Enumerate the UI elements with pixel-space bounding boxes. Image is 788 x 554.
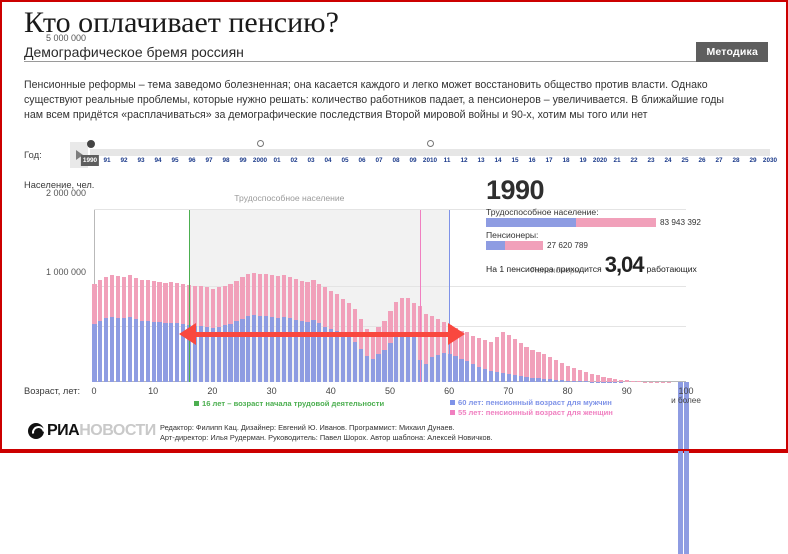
bar-segment-pink [513, 339, 517, 375]
bar-segment-pink [507, 335, 511, 374]
bar-segment-pink [388, 311, 392, 343]
bar-age-74 [530, 350, 534, 382]
bar-segment-pink [578, 370, 582, 381]
bar-segment-pink [495, 337, 499, 372]
bar-segment-blue [92, 324, 96, 382]
bar-segment-pink [98, 280, 102, 321]
bar-segment-pink [282, 275, 286, 317]
ria-logo-mark-icon [28, 423, 44, 439]
bar-segment-pink [400, 298, 404, 334]
bar-age-89 [619, 380, 623, 382]
bar-age-70 [507, 335, 511, 382]
x-tick-label-30: 30 [267, 386, 277, 396]
bar-segment-pink [169, 282, 173, 322]
bar-segment-blue [388, 343, 392, 382]
bar-segment-pink [483, 340, 487, 369]
info-pensioners-bar: 27 620 789 [486, 241, 786, 250]
bar-segment-blue [684, 382, 688, 554]
bar-segment-pink [323, 287, 327, 326]
bar-segment-blue [578, 381, 582, 382]
bar-age-41 [335, 294, 339, 382]
bar-age-27 [252, 273, 256, 382]
year-label-91[interactable]: 91 [103, 157, 110, 164]
bar-age-79 [560, 363, 564, 382]
year-label-92[interactable]: 92 [120, 157, 127, 164]
bar-age-42 [341, 299, 345, 382]
ria-novosti-logo: РИАНОВОСТИ [28, 422, 156, 440]
bar-segment-blue [430, 357, 434, 382]
bar-segment-blue [465, 361, 469, 382]
bar-segment-blue [530, 378, 534, 382]
bar-age-86 [601, 377, 605, 382]
year-label-94[interactable]: 94 [154, 157, 161, 164]
info-pensioners-value: 27 620 789 [547, 241, 588, 250]
year-label-95[interactable]: 95 [171, 157, 178, 164]
year-label-25[interactable]: 25 [681, 157, 688, 164]
bar-age-90 [625, 380, 629, 382]
year-label-2000[interactable]: 2000 [253, 157, 267, 164]
bar-segment-pink [471, 336, 475, 365]
bar-segment-pink [270, 275, 274, 317]
bar-segment-pink [477, 338, 481, 367]
bar-segment-blue [536, 378, 540, 382]
men-pension-line [449, 210, 450, 382]
x-axis-overflow-label: и более [671, 396, 701, 405]
arrow-head-right [448, 323, 465, 345]
methodika-button[interactable]: Методика [696, 42, 768, 62]
bar-age-31 [276, 276, 280, 382]
bar-segment-blue [116, 318, 120, 382]
bar-segment-blue [152, 322, 156, 382]
bar-segment-pink [554, 360, 558, 380]
info-working-bar-blue [486, 218, 576, 227]
x-axis-title: Возраст, лет: [24, 386, 80, 396]
info-ratio-suffix: работающих [647, 264, 697, 274]
bar-segment-blue [424, 364, 428, 382]
bar-age-12 [163, 283, 167, 383]
bar-age-3 [110, 275, 114, 382]
bar-segment-blue [436, 355, 440, 382]
page-title: Кто оплачивает пенсию? [24, 6, 766, 40]
bar-segment-blue [341, 335, 345, 382]
year-label-14[interactable]: 14 [494, 157, 501, 164]
note-men-pension: 60 лет: пенсионный возраст для мужчин [450, 398, 612, 407]
bar-segment-blue [140, 321, 144, 382]
bar-segment-blue [311, 320, 315, 382]
bar-segment-blue [134, 319, 138, 382]
bar-age-7 [134, 278, 138, 382]
bar-segment-pink [152, 281, 156, 321]
bar-segment-blue [572, 381, 576, 382]
year-label-24[interactable]: 24 [664, 157, 671, 164]
x-tick-label-0: 0 [91, 386, 96, 396]
bar-age-76 [542, 354, 546, 382]
bar-segment-blue [507, 374, 511, 382]
bar-segment-pink [489, 342, 493, 371]
bar-age-1 [98, 280, 102, 382]
lead-paragraph: Пенсионные реформы – тема заведомо болез… [24, 78, 744, 124]
bar-age-5 [122, 277, 126, 382]
bar-segment-pink [246, 274, 250, 316]
bar-segment-pink [199, 286, 203, 326]
bar-segment-pink [536, 352, 540, 378]
bar-segment-blue [335, 331, 339, 382]
year-label-98[interactable]: 98 [222, 157, 229, 164]
credits-line-1: Редактор: Филипп Кац. Дизайнер: Евгений … [160, 423, 493, 433]
bar-segment-pink [175, 283, 179, 323]
page-subtitle: Демографическое бремя россиян [24, 43, 766, 61]
year-label-26[interactable]: 26 [698, 157, 705, 164]
bar-segment-pink [371, 336, 375, 359]
year-label-12[interactable]: 12 [460, 157, 467, 164]
year-label-03[interactable]: 03 [307, 157, 314, 164]
bar-segment-blue [365, 356, 369, 382]
year-slider-label: Год: [24, 150, 42, 161]
bar-segment-blue [252, 315, 256, 382]
bar-segment-pink [442, 322, 446, 354]
bar-age-6 [128, 275, 132, 382]
year-label-27[interactable]: 27 [715, 157, 722, 164]
bar-age-26 [246, 274, 250, 382]
bar-segment-pink [104, 277, 108, 319]
bar-segment-pink [163, 283, 167, 323]
bar-age-25 [240, 277, 244, 382]
bar-segment-blue [459, 359, 463, 382]
bar-age-50 [388, 311, 392, 382]
bar-segment-blue [560, 380, 564, 382]
bar-segment-blue [353, 342, 357, 382]
bar-segment-blue [128, 317, 132, 382]
info-ratio-prefix: На 1 пенсионера приходится [486, 264, 602, 274]
bar-segment-blue [264, 316, 268, 382]
bar-age-71 [513, 339, 517, 382]
bar-age-44 [353, 309, 357, 382]
bar-age-45 [359, 319, 363, 382]
bar-segment-pink [211, 289, 215, 328]
slider-marker-1990[interactable] [87, 140, 95, 148]
bar-age-91 [631, 381, 635, 382]
year-slider[interactable]: Год: 19909192939495969798992000010203040… [2, 140, 786, 172]
bar-segment-pink [223, 286, 227, 326]
bar-segment-blue [489, 371, 493, 382]
bar-age-28 [258, 274, 262, 382]
bar-segment-blue [524, 377, 528, 382]
bar-age-0 [92, 284, 96, 382]
x-tick-label-50: 50 [385, 386, 395, 396]
bar-segment-pink [590, 374, 594, 382]
bar-age-57 [430, 316, 434, 382]
x-tick-label-20: 20 [207, 386, 217, 396]
slider-track[interactable] [90, 149, 770, 156]
year-label-01[interactable]: 01 [273, 157, 280, 164]
bar-segment-blue [234, 321, 238, 382]
bar-segment-blue [300, 321, 304, 382]
note-work-start: 16 лет – возраст начала трудовой деятель… [194, 399, 384, 408]
bar-segment-blue [566, 381, 570, 382]
bar-segment-blue [406, 334, 410, 382]
bar-segment-blue [146, 321, 150, 382]
year-label-93[interactable]: 93 [137, 157, 144, 164]
bar-age-9 [146, 280, 150, 382]
bar-segment-pink [317, 284, 321, 324]
bar-age-84 [590, 374, 594, 382]
bar-segment-blue [305, 322, 309, 382]
bar-segment-pink [276, 276, 280, 318]
x-tick-label-80: 80 [563, 386, 573, 396]
bar-age-32 [282, 275, 286, 382]
bar-segment-blue [442, 353, 446, 382]
square-marker-pink-icon [450, 410, 455, 415]
bar-age-53 [406, 298, 410, 382]
bar-segment-pink [584, 372, 588, 382]
bar-age-67 [489, 342, 493, 382]
bar-segment-blue [400, 334, 404, 382]
bar-age-88 [613, 379, 617, 382]
bar-segment-blue [169, 323, 173, 382]
bar-segment-blue [477, 367, 481, 382]
year-label-21[interactable]: 21 [613, 157, 620, 164]
year-label-16[interactable]: 16 [528, 157, 535, 164]
bar-segment-blue [371, 359, 375, 382]
bar-segment-blue [548, 379, 552, 382]
x-tick-label-100: 100 [678, 386, 693, 396]
bar-segment-pink [288, 277, 292, 318]
info-ratio: На 1 пенсионера приходится 3,04 работающ… [486, 255, 786, 275]
year-label-07[interactable]: 07 [375, 157, 382, 164]
bar-segment-blue [246, 316, 250, 382]
year-label-28[interactable]: 28 [732, 157, 739, 164]
year-label-1990[interactable]: 1990 [81, 155, 99, 166]
bar-segment-pink [128, 275, 132, 317]
bar-segment-blue [471, 364, 475, 382]
bar-segment-pink [205, 287, 209, 327]
bar-segment-pink [122, 277, 126, 318]
year-label-22[interactable]: 22 [630, 157, 637, 164]
bar-segment-blue [104, 318, 108, 382]
bar-segment-blue [513, 375, 517, 382]
bar-segment-pink [424, 314, 428, 364]
info-working-value: 83 943 392 [660, 218, 701, 227]
credits-line-2: Арт-директор: Илья Рудерман. Руководител… [160, 433, 493, 443]
bar-age-59 [442, 322, 446, 382]
bar-segment-pink [181, 284, 185, 324]
arrow-shaft [195, 332, 450, 337]
year-label-97[interactable]: 97 [205, 157, 212, 164]
bar-segment-pink [294, 279, 298, 320]
bar-segment-pink [110, 275, 114, 317]
bar-age-63 [465, 332, 469, 382]
bar-age-85 [596, 375, 600, 382]
x-tick-label-90: 90 [622, 386, 632, 396]
footer: РИАНОВОСТИ Редактор: Филипп Кац. Дизайне… [2, 418, 786, 451]
bar-segment-pink [116, 276, 120, 318]
bar-segment-pink [501, 332, 505, 372]
note-men-pension-label: 60 лет: пенсионный возраст для мужчин [458, 398, 612, 407]
x-tick-label-60: 60 [444, 386, 454, 396]
bar-segment-pink [217, 287, 221, 326]
bar-age-10 [152, 281, 156, 382]
y-tick-label-1: 2 000 000 [46, 188, 86, 198]
year-label-2030[interactable]: 2030 [763, 157, 777, 164]
year-label-04[interactable]: 04 [324, 157, 331, 164]
note-women-pension: 55 лет: пенсионный возраст для женщин [450, 408, 613, 417]
bar-segment-blue [412, 337, 416, 382]
y-tick-label-2: 1 000 000 [46, 267, 86, 277]
bar-segment-pink [465, 332, 469, 361]
bar-segment-blue [382, 350, 386, 382]
year-label-23[interactable]: 23 [647, 157, 654, 164]
bar-segment-pink [300, 281, 304, 321]
year-label-13[interactable]: 13 [477, 157, 484, 164]
bar-segment-pink [193, 286, 197, 326]
bar-age-72 [519, 343, 523, 382]
bar-segment-pink [92, 284, 96, 324]
slider-year-labels[interactable]: 1990919293949596979899200001020304050607… [90, 156, 780, 170]
bar-age-47 [371, 336, 375, 382]
bar-segment-blue [294, 320, 298, 382]
info-pensioners-bar-pink [505, 241, 543, 250]
header-divider [24, 61, 724, 62]
bar-segment-blue [110, 317, 114, 382]
year-label-02[interactable]: 02 [290, 157, 297, 164]
bar-segment-pink [519, 343, 523, 375]
bar-segment-pink [572, 368, 576, 381]
year-label-05[interactable]: 05 [341, 157, 348, 164]
bar-segment-blue [376, 354, 380, 382]
bar-segment-pink [566, 366, 570, 381]
bar-segment-pink [240, 277, 244, 319]
bar-segment-blue [519, 376, 523, 382]
info-ratio-value: 3,04 [605, 255, 644, 275]
slider-marker-2000[interactable] [257, 140, 264, 147]
bar-age-4 [116, 276, 120, 382]
year-label-2010[interactable]: 2010 [423, 157, 437, 164]
bar-age-68 [495, 337, 499, 382]
bar-age-58 [436, 319, 440, 382]
bar-segment-pink [146, 280, 150, 321]
bar-segment-blue [542, 379, 546, 382]
info-working-label: Трудоспособное население: [486, 207, 786, 217]
bar-segment-blue [276, 318, 280, 382]
slider-marker-2010[interactable] [427, 140, 434, 147]
bar-age-33 [288, 277, 292, 382]
year-label-96[interactable]: 96 [188, 157, 195, 164]
bar-segment-pink [311, 280, 315, 321]
bar-segment-pink [329, 291, 333, 329]
info-working-bar: 83 943 392 [486, 218, 786, 227]
bar-age-80 [566, 366, 570, 383]
bar-age-75 [536, 352, 540, 382]
inplot-label-0: Трудоспособное население [234, 193, 344, 203]
y-tick-label-0: 5 000 000 [46, 33, 86, 43]
year-label-29[interactable]: 29 [749, 157, 756, 164]
square-marker-green-icon [194, 401, 199, 406]
infographic-page: Кто оплачивает пенсию? Демографическое б… [2, 2, 786, 451]
slider-markers[interactable] [90, 140, 770, 149]
bar-age-34 [294, 279, 298, 382]
bar-segment-pink [542, 354, 546, 378]
year-label-2020[interactable]: 2020 [593, 157, 607, 164]
bar-segment-blue [678, 382, 682, 554]
note-women-pension-label: 55 лет: пенсионный возраст для женщин [458, 408, 613, 417]
bar-segment-pink [530, 350, 534, 378]
bar-segment-pink [252, 273, 256, 315]
bar-segment-pink [548, 357, 552, 379]
year-label-19[interactable]: 19 [579, 157, 586, 164]
info-panel: 1990 Трудоспособное население: 83 943 39… [486, 176, 786, 275]
year-label-11[interactable]: 11 [444, 157, 451, 164]
bar-segment-blue [157, 322, 161, 382]
year-label-18[interactable]: 18 [562, 157, 569, 164]
bar-segment-pink [335, 294, 339, 331]
bar-age-64 [471, 336, 475, 382]
header: Кто оплачивает пенсию? Демографическое б… [24, 6, 766, 61]
bar-segment-pink [258, 274, 262, 316]
arrow-head-left [179, 323, 196, 345]
bar-age-73 [524, 347, 528, 382]
bar-segment-pink [524, 347, 528, 377]
year-label-09[interactable]: 09 [409, 157, 416, 164]
year-label-08[interactable]: 08 [392, 157, 399, 164]
note-work-start-label: 16 лет – возраст начала трудовой деятель… [202, 399, 384, 408]
year-label-06[interactable]: 06 [358, 157, 365, 164]
bar-segment-blue [288, 318, 292, 382]
year-label-15[interactable]: 15 [511, 157, 518, 164]
bar-segment-blue [347, 337, 351, 382]
bar-age-92 [637, 381, 641, 382]
bar-segment-blue [554, 380, 558, 382]
square-marker-blue-icon [450, 400, 455, 405]
bar-segment-blue [282, 317, 286, 382]
bar-age-51 [394, 302, 398, 382]
bar-segment-blue [483, 369, 487, 382]
bar-age-54 [412, 303, 416, 382]
bar-age-81 [572, 368, 576, 382]
bar-segment-blue [501, 373, 505, 382]
bar-segment-pink [376, 327, 380, 355]
women-pension-line [420, 210, 421, 382]
bar-age-11 [157, 282, 161, 382]
bar-segment-pink [305, 282, 309, 322]
bar-segment-pink [228, 284, 232, 324]
bar-segment-pink [134, 278, 138, 319]
bar-age-52 [400, 298, 404, 382]
year-label-17[interactable]: 17 [545, 157, 552, 164]
bar-age-82 [578, 370, 582, 382]
bar-age-56 [424, 314, 428, 382]
bar-segment-blue [163, 323, 167, 382]
bar-age-2 [104, 277, 108, 382]
bar-age-69 [501, 332, 505, 382]
x-tick-label-40: 40 [326, 386, 336, 396]
x-tick-label-70: 70 [503, 386, 513, 396]
credits: Редактор: Филипп Кац. Дизайнер: Евгений … [160, 423, 493, 443]
bar-segment-blue [394, 337, 398, 382]
info-pensioners-label: Пенсионеры: [486, 230, 786, 240]
info-working-bar-pink [576, 218, 656, 227]
info-pensioners-bar-blue [486, 241, 505, 250]
bar-segment-blue [359, 349, 363, 382]
bar-age-87 [607, 378, 611, 382]
year-label-99[interactable]: 99 [239, 157, 246, 164]
bar-age-66 [483, 340, 487, 382]
bar-segment-pink [341, 299, 345, 334]
logo-novosti-text: НОВОСТИ [79, 422, 156, 440]
bar-segment-pink [157, 282, 161, 322]
bar-segment-pink [406, 298, 410, 334]
bar-age-30 [270, 275, 274, 382]
bar-age-29 [264, 274, 268, 382]
